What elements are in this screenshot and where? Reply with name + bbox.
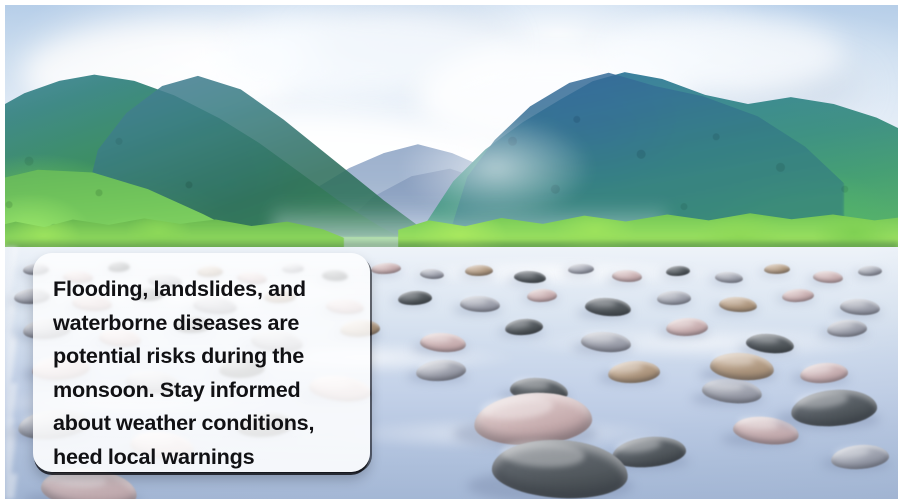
caption-line: heed local warnings	[53, 440, 348, 472]
caption-line: Flooding, landslides, and	[53, 272, 348, 306]
caption-text: Flooding, landslides, and waterborne dis…	[53, 272, 348, 472]
caption-card: Flooding, landslides, and waterborne dis…	[33, 253, 370, 472]
caption-line: waterborne diseases are	[53, 306, 348, 340]
caption-text-wrap: Flooding, landslides, and waterborne dis…	[53, 272, 348, 472]
image-card: Flooding, landslides, and waterborne dis…	[0, 0, 900, 499]
boulder	[657, 290, 691, 305]
caption-line: monsoon. Stay informed	[53, 373, 348, 407]
caption-line: about weather conditions,	[53, 406, 348, 440]
caption-line: potential risks during the	[53, 339, 348, 373]
